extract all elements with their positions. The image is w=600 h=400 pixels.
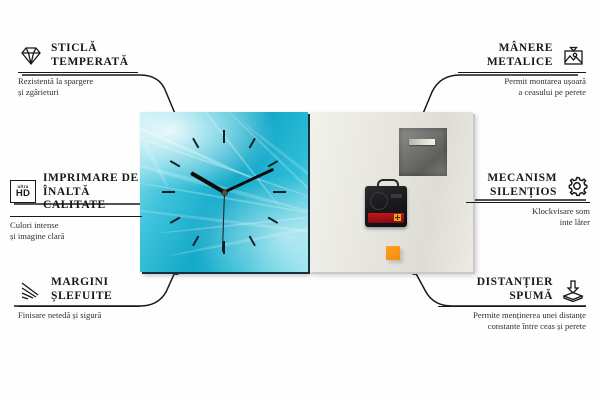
mechanism-hanging-loop <box>377 179 399 191</box>
feature-silent-mechanism: MECANISM SILENȚIOS Klockvisare som inte … <box>460 172 590 228</box>
feature-subtitle: Finisare netedă și sigură <box>18 310 146 321</box>
foam-spacer-pad <box>386 246 400 260</box>
battery-plus-terminal <box>394 214 401 221</box>
feature-tempered-glass: STICLĂ TEMPERATĂ Rezistentă la spargere … <box>18 42 144 98</box>
ultra-hd-icon: ultra HD <box>10 180 36 204</box>
feature-header: MARGINI ȘLEFUITE <box>18 276 146 303</box>
battery <box>368 213 404 223</box>
feature-subtitle: Permit montarea ușoară a ceasului pe per… <box>452 76 586 98</box>
feature-rule <box>466 202 590 203</box>
feature-rule <box>18 72 138 73</box>
feature-subtitle: Permite menținerea unei distanțe constan… <box>432 310 586 332</box>
feature-metal-handles: MÂNERE METALICE Permit montarea ușoară a… <box>452 42 586 98</box>
press-down-icon <box>560 278 586 302</box>
feature-subtitle: Culori intense și imagine clară <box>10 220 148 242</box>
feature-header: ultra HD IMPRIMARE DE ÎNALTĂ CALITATE <box>10 172 148 213</box>
hanger-slot <box>409 139 435 145</box>
infographic-canvas: STICLĂ TEMPERATĂ Rezistentă la spargere … <box>0 0 600 400</box>
feature-rule <box>10 216 142 217</box>
diamond-icon <box>18 44 44 68</box>
feature-foam-spacer: DISTANȚIER SPUMĂ Permite menținerea unei… <box>432 276 586 332</box>
feature-title: DISTANȚIER SPUMĂ <box>477 276 553 303</box>
feature-header: DISTANȚIER SPUMĂ <box>432 276 586 303</box>
feature-title: MÂNERE METALICE <box>487 42 553 69</box>
feature-rule <box>438 306 586 307</box>
feature-subtitle: Rezistentă la spargere și zgârieturi <box>18 76 144 98</box>
feature-rule <box>18 306 140 307</box>
feature-polished-edges: MARGINI ȘLEFUITE Finisare netedă și sigu… <box>18 276 146 321</box>
mechanism-label-bar <box>391 194 402 198</box>
clock-front-panel <box>140 112 308 272</box>
feature-header: MECANISM SILENȚIOS <box>460 172 590 199</box>
feature-title: IMPRIMARE DE ÎNALTĂ CALITATE <box>43 172 148 213</box>
clock-face <box>140 112 308 272</box>
picture-hanger-icon <box>560 44 586 68</box>
feature-title: MECANISM SILENȚIOS <box>487 172 557 199</box>
gear-icon <box>564 174 590 198</box>
feature-rule <box>458 72 586 73</box>
clock-back-panel <box>310 112 473 272</box>
clock-center-pin <box>222 190 227 195</box>
feature-title: STICLĂ TEMPERATĂ <box>51 42 129 69</box>
feature-title: MARGINI ȘLEFUITE <box>51 276 112 303</box>
feature-high-quality-print: ultra HD IMPRIMARE DE ÎNALTĂ CALITATE Cu… <box>10 172 148 242</box>
feature-header: STICLĂ TEMPERATĂ <box>18 42 144 69</box>
metal-hanger-plate <box>399 128 447 176</box>
polished-edges-icon <box>18 278 44 302</box>
feature-header: MÂNERE METALICE <box>452 42 586 69</box>
feature-subtitle: Klockvisare som inte låter <box>460 206 590 228</box>
mechanism-dial <box>370 192 388 210</box>
clock-mechanism-box <box>365 186 407 227</box>
